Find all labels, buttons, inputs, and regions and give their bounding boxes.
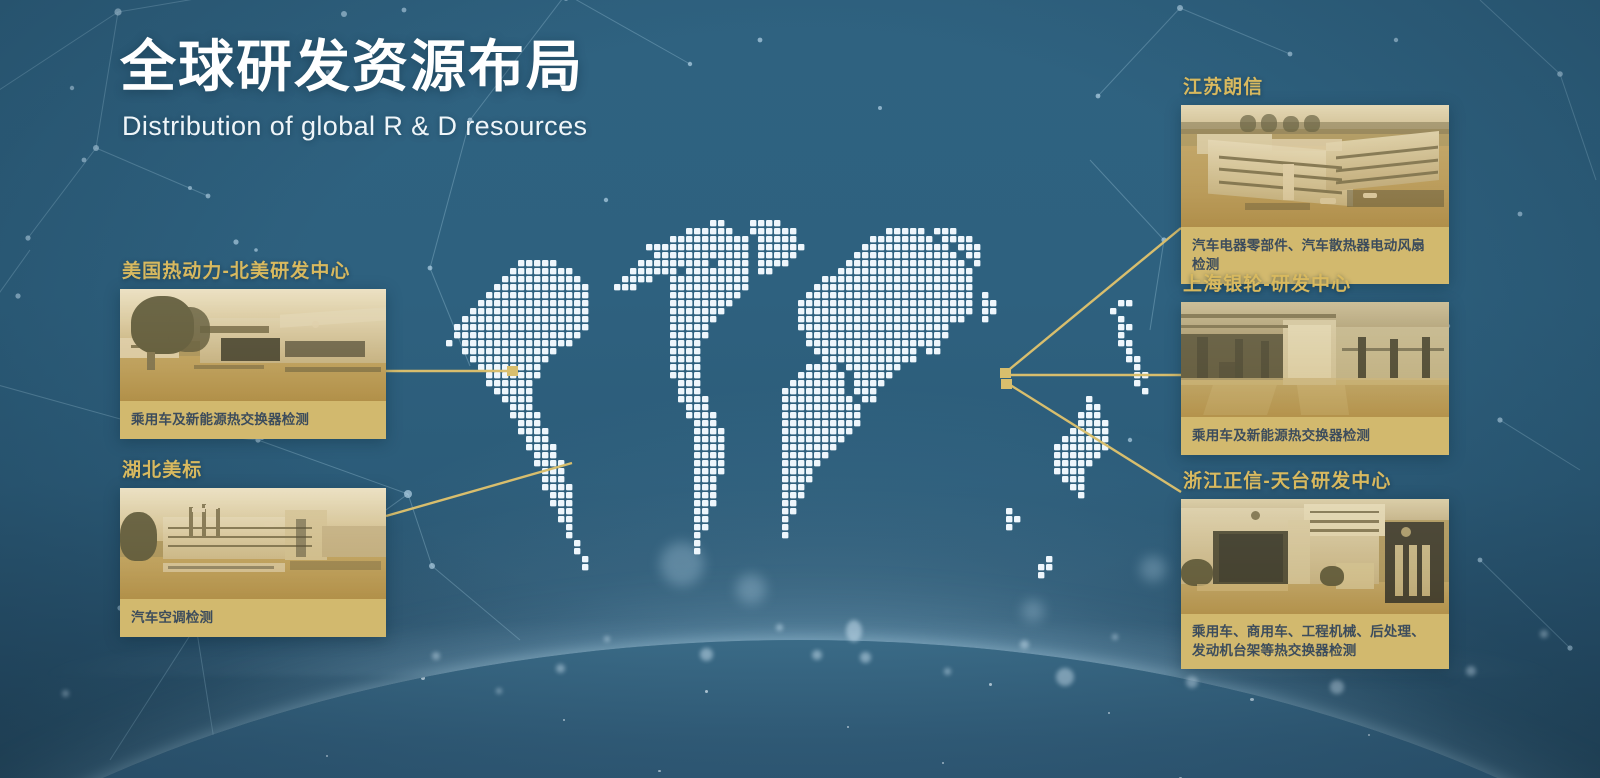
thermal-dynamics-building-photo — [120, 289, 386, 401]
card-caption: 乘用车及新能源热交换器检测 — [1181, 417, 1449, 455]
card-frame: 乘用车及新能源热交换器检测 — [120, 289, 386, 439]
card-caption: 乘用车、商用车、工程机械、后处理、 发动机台架等热交换器检测 — [1181, 614, 1449, 669]
card-jiangsu-langxin[interactable]: 江苏朗信 — [1181, 72, 1449, 284]
card-label: 湖北美标 — [122, 455, 386, 482]
card-frame: 汽车空调检测 — [120, 488, 386, 637]
hubei-meibiao-building-photo — [120, 488, 386, 599]
card-frame: 汽车电器零部件、汽车散热器电动风扇检测 — [1181, 105, 1449, 284]
world-map — [430, 212, 1150, 592]
card-label: 上海银轮-研发中心 — [1183, 269, 1449, 296]
card-hubei-meibiao[interactable]: 湖北美标 — [120, 455, 386, 637]
card-thermal-dynamics-na[interactable]: 美国热动力-北美研发中心 — [120, 256, 386, 439]
page-subtitle: Distribution of global R & D resources — [122, 111, 587, 142]
page-heading: 全球研发资源布局 Distribution of global R & D re… — [120, 36, 587, 142]
global-rd-infographic: 全球研发资源布局 Distribution of global R & D re… — [0, 0, 1600, 778]
jiangsu-langxin-factory-photo — [1181, 105, 1449, 227]
card-label: 浙江正信-天台研发中心 — [1183, 466, 1449, 493]
card-caption: 汽车空调检测 — [120, 599, 386, 637]
page-title: 全球研发资源布局 — [120, 36, 587, 99]
card-label: 美国热动力-北美研发中心 — [122, 256, 386, 283]
zhejiang-zhengxin-entrance-photo — [1181, 499, 1449, 614]
card-caption-line: 发动机台架等热交换器检测 — [1192, 641, 1438, 660]
card-zhejiang-zhengxin[interactable]: 浙江正信-天台研发中心 — [1181, 466, 1449, 669]
card-shanghai-yinlun[interactable]: 上海银轮-研发中心 — [1181, 269, 1449, 455]
card-frame: 乘用车及新能源热交换器检测 — [1181, 302, 1449, 455]
card-caption-line: 乘用车、商用车、工程机械、后处理、 — [1192, 622, 1438, 641]
card-frame: 乘用车、商用车、工程机械、后处理、 发动机台架等热交换器检测 — [1181, 499, 1449, 669]
card-caption: 乘用车及新能源热交换器检测 — [120, 401, 386, 439]
card-label: 江苏朗信 — [1183, 72, 1449, 99]
shanghai-yinlun-workshop-photo — [1181, 302, 1449, 417]
